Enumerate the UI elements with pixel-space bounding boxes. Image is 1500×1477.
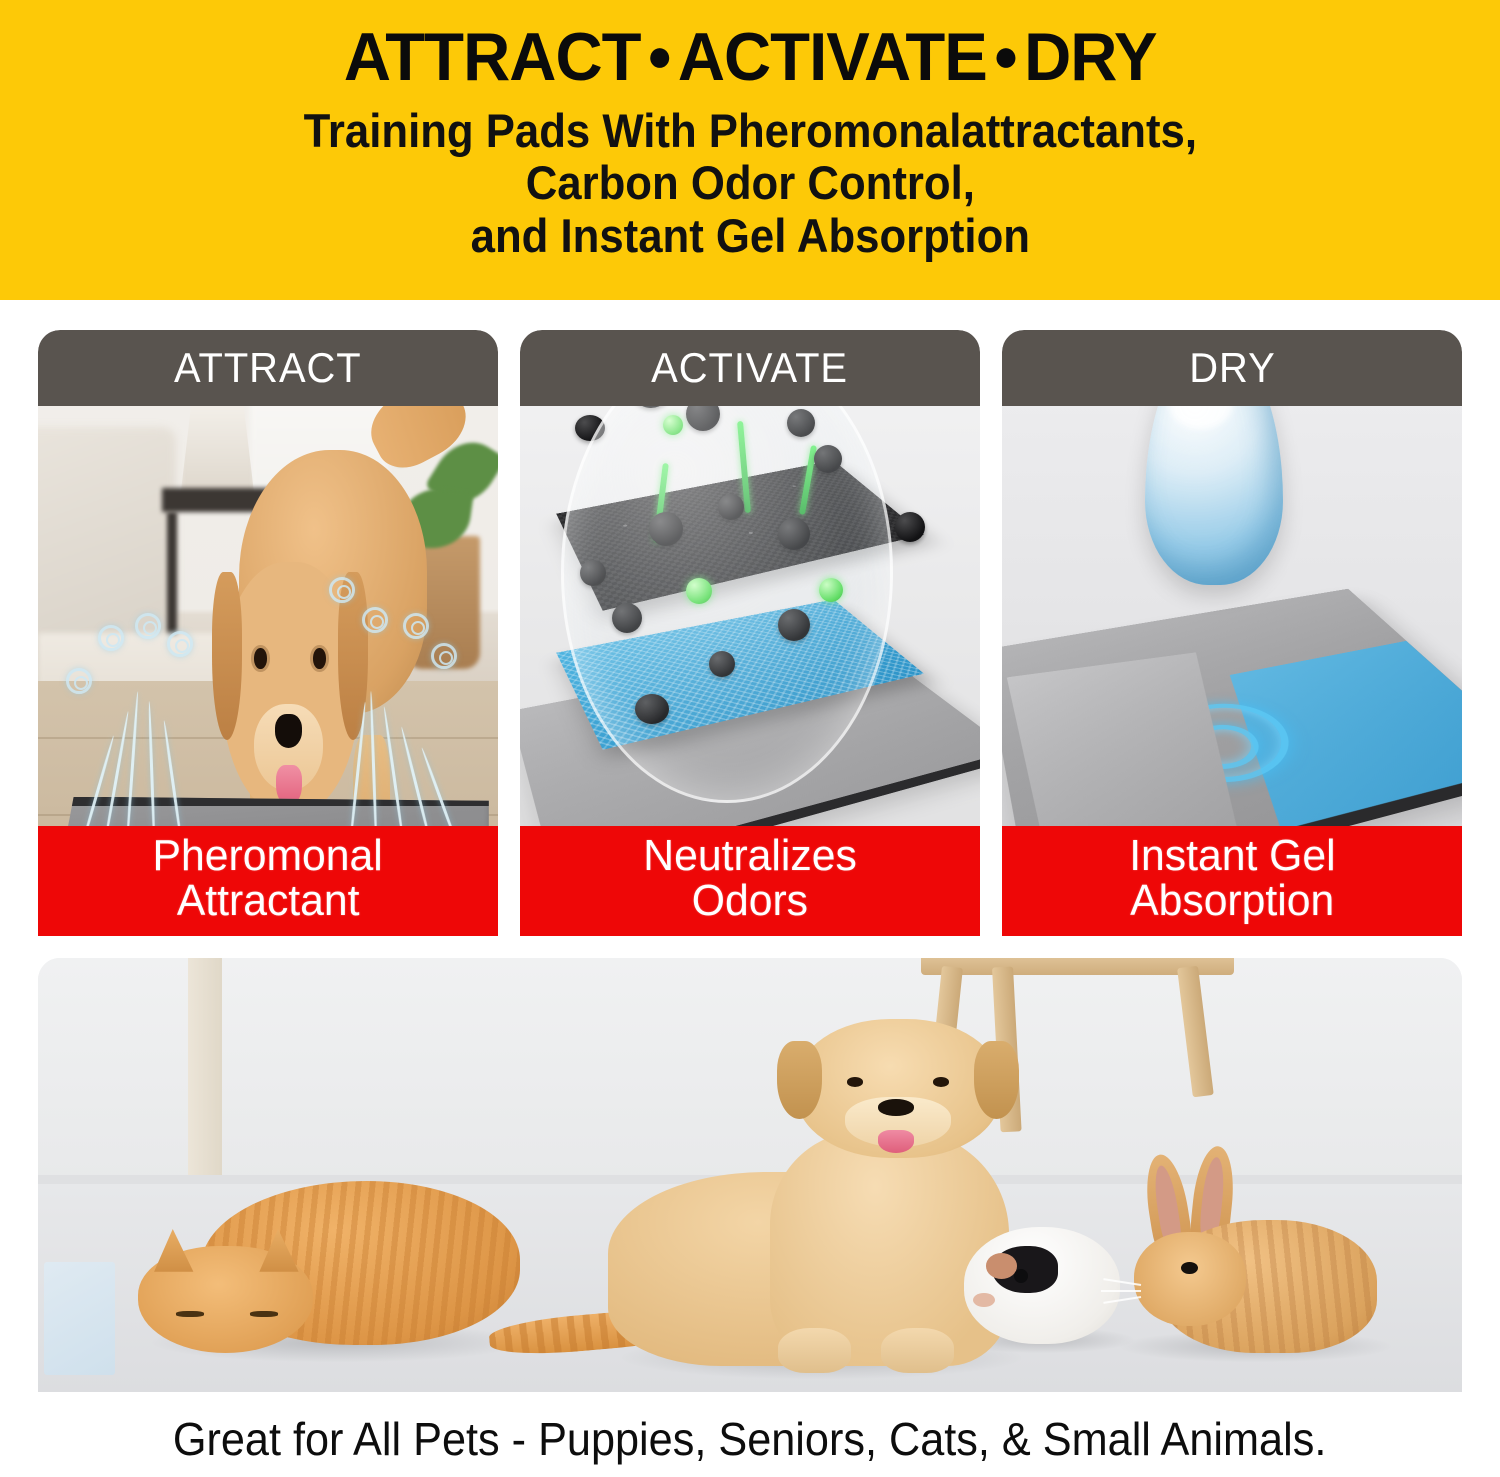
cat-head: [138, 1246, 313, 1353]
subtitle-line-1: Training Pads With Pheromonalattractants…: [303, 105, 1196, 158]
title-part-attract: ATTRACT: [344, 19, 641, 95]
hero-photo: [38, 958, 1462, 1392]
feature-panel-attract: ATTRACT Pheromonal Attractant: [38, 330, 498, 936]
subtitle-line-2: Carbon Odor Control,: [303, 157, 1196, 210]
page-subtitle: Training Pads With Pheromonalattractants…: [303, 105, 1196, 263]
rabbit-whisker-2: [1101, 1290, 1141, 1292]
dog-eye-right: [933, 1077, 949, 1087]
page-title: ATTRACT●ACTIVATE●DRY: [344, 22, 1157, 93]
guinea-pig-figure: [964, 1227, 1121, 1344]
feature-panel-activate: ACTIVATE Neutralizes Odors: [520, 330, 980, 936]
cat-eye-left: [176, 1311, 204, 1316]
title-part-activate: ACTIVATE: [678, 19, 987, 95]
panel-label-line-1: Neutralizes: [643, 834, 856, 879]
title-separator-1: ●: [640, 29, 677, 81]
panel-header-activate: ACTIVATE: [520, 330, 980, 406]
panel-header-label: ATTRACT: [174, 344, 362, 392]
panel-body-dry: [1002, 406, 1462, 826]
pad-corner-prop: [44, 1262, 115, 1375]
panel-label-line-2: Absorption: [1130, 879, 1334, 924]
rabbit-head: [1134, 1232, 1245, 1326]
dog-head: [796, 1019, 1001, 1158]
rabbit-figure: [1134, 1158, 1376, 1353]
dog-ear-right: [974, 1041, 1019, 1119]
dog-paw-right: [881, 1328, 954, 1373]
cat-eye-right: [250, 1311, 278, 1316]
dog-nose: [878, 1099, 915, 1116]
header-banner: ATTRACT●ACTIVATE●DRY Training Pads With …: [0, 0, 1500, 300]
rabbit-eye: [1181, 1262, 1198, 1274]
feature-panel-dry: DRY Instant Gel Absorption: [1002, 330, 1462, 936]
footer-caption: Great for All Pets - Puppies, Seniors, C…: [0, 1400, 1500, 1477]
panel-label-line-2: Odors: [692, 879, 808, 924]
dog-tongue: [878, 1130, 915, 1154]
title-part-dry: DRY: [1024, 19, 1157, 95]
panel-label-line-1: Instant Gel: [1129, 834, 1335, 879]
panel-label-attract: Pheromonal Attractant: [38, 826, 498, 936]
guinea-pig-ear-patch: [986, 1253, 1017, 1279]
panel-header-label: DRY: [1189, 344, 1275, 392]
dog-paw-left: [778, 1328, 851, 1373]
cat-figure: [138, 1162, 537, 1353]
dog-ear-left: [777, 1041, 822, 1119]
guinea-pig-nose: [973, 1293, 995, 1307]
panel-body-attract: [38, 406, 498, 826]
dog-eye-left: [847, 1077, 863, 1087]
guinea-pig-eye: [1014, 1269, 1028, 1283]
cat-ear-left: [148, 1229, 197, 1272]
panel-header-attract: ATTRACT: [38, 330, 498, 406]
footer-caption-text: Great for All Pets - Puppies, Seniors, C…: [173, 1412, 1327, 1466]
panel-label-line-1: Pheromonal: [153, 834, 383, 879]
panel-header-dry: DRY: [1002, 330, 1462, 406]
panel-header-label: ACTIVATE: [652, 344, 849, 392]
feature-panel-group: ATTRACT Pheromonal Attractant: [38, 330, 1462, 936]
subtitle-line-3: and Instant Gel Absorption: [303, 210, 1196, 263]
panel-label-dry: Instant Gel Absorption: [1002, 826, 1462, 936]
panel-label-line-2: Attractant: [177, 879, 360, 924]
title-separator-2: ●: [987, 29, 1024, 81]
panel-body-activate: [520, 406, 980, 826]
panel-label-activate: Neutralizes Odors: [520, 826, 980, 936]
